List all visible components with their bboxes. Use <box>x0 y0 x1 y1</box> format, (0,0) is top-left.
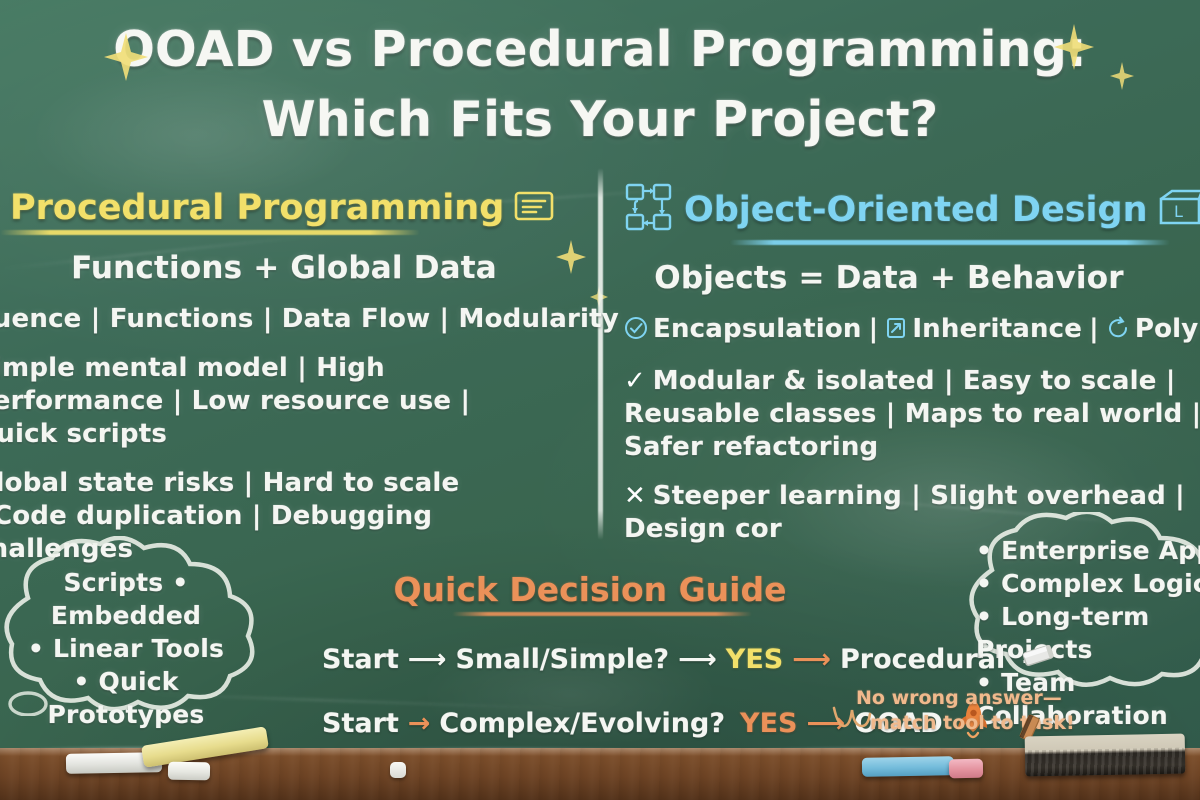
pillar-label: Polymorphism <box>1135 314 1200 344</box>
ooad-pros-text: Modular & isolated | Easy to scale | Reu… <box>624 366 1200 462</box>
eraser-felt <box>1025 748 1185 777</box>
page-title: OOAD vs Procedural Programming: Which Fi… <box>0 22 1200 148</box>
inheritance-arrow-icon <box>885 316 907 349</box>
guide-title-underline <box>452 612 752 616</box>
flow1-arrow-3: ⟶ <box>792 643 831 677</box>
procedural-heading-underline <box>0 230 420 235</box>
svg-text:L: L <box>1174 202 1183 221</box>
ooad-subtitle: Objects = Data + Behavior <box>624 259 1200 297</box>
pink-chalk-stick <box>949 759 983 779</box>
note-line-2: match tool to task! <box>856 711 1106 736</box>
class-box-icon: L <box>1158 189 1200 231</box>
document-lines-icon <box>514 190 554 226</box>
flow1-yes: YES <box>726 643 783 677</box>
pillar-separator: | <box>869 314 879 344</box>
flow1-arrow-1: ⟶ <box>408 643 447 677</box>
decision-flow-row-1: Start ⟶ Small/Simple? ⟶ YES ⟶ Procedural <box>0 640 1200 679</box>
blue-chalk-stick <box>862 756 954 777</box>
vertical-divider <box>598 168 603 540</box>
pillar-label: Inheritance <box>912 314 1082 344</box>
ooad-heading-underline <box>730 240 1170 245</box>
refresh-cycle-icon <box>1106 316 1130 349</box>
check-circle-icon <box>624 316 648 349</box>
pillar-separator: | <box>1089 314 1099 344</box>
flow1-question: Small/Simple? <box>456 643 670 677</box>
ooad-heading-label: Object-Oriented Design <box>684 190 1148 230</box>
guide-title: Quick Decision Guide <box>0 570 1200 610</box>
flow2-start: Start <box>322 707 399 741</box>
flow1-arrow-2: ⟶ <box>678 643 717 677</box>
procedural-subtitle: Functions + Global Data <box>0 249 564 287</box>
procedural-pros: Simple mental model | High performance |… <box>0 352 484 451</box>
ooad-heading: Object-Oriented Design L <box>624 182 1200 238</box>
flow2-yes: YES <box>740 707 797 741</box>
chalk-nub <box>390 762 406 778</box>
title-line-2: Which Fits Your Project? <box>0 92 1200 148</box>
procedural-concepts: quence | Functions | Data Flow | Modular… <box>0 303 564 336</box>
procedural-heading-label: Procedural Programming <box>10 188 504 228</box>
chalk-stick-icon <box>1018 640 1058 679</box>
note-line-1: No wrong answer— <box>856 686 1106 711</box>
procedural-column: → Procedural Programming Functions + Glo… <box>0 188 564 566</box>
procedural-heading: → Procedural Programming <box>0 188 564 228</box>
check-mark-icon: ✓ <box>624 366 646 396</box>
pillar-label: Encapsulation <box>653 314 862 344</box>
flow2-arrow-1: → <box>408 707 431 741</box>
ooad-column: Object-Oriented Design L Objects = Data … <box>624 182 1200 546</box>
title-line-1: OOAD vs Procedural Programming: <box>0 22 1200 78</box>
uml-class-diagram-icon <box>624 182 674 238</box>
flow1-start: Start <box>322 643 399 677</box>
short-white-chalk <box>168 762 210 781</box>
felt-eraser <box>1025 734 1186 777</box>
ooad-pros: ✓Modular & isolated | Easy to scale | Re… <box>624 365 1200 464</box>
closing-note: No wrong answer— match tool to task! <box>856 686 1106 736</box>
chalkboard: OOAD vs Procedural Programming: Which Fi… <box>0 0 1200 800</box>
flow2-question: Complex/Evolving? <box>439 707 725 741</box>
flow1-result: Procedural <box>840 643 1005 677</box>
x-mark-icon: ✕ <box>624 481 646 511</box>
ooad-pillars: Encapsulation| Inheritance| Polymorphism… <box>624 313 1200 349</box>
cloud-right-item: • Enterprise Apps <box>976 534 1200 567</box>
